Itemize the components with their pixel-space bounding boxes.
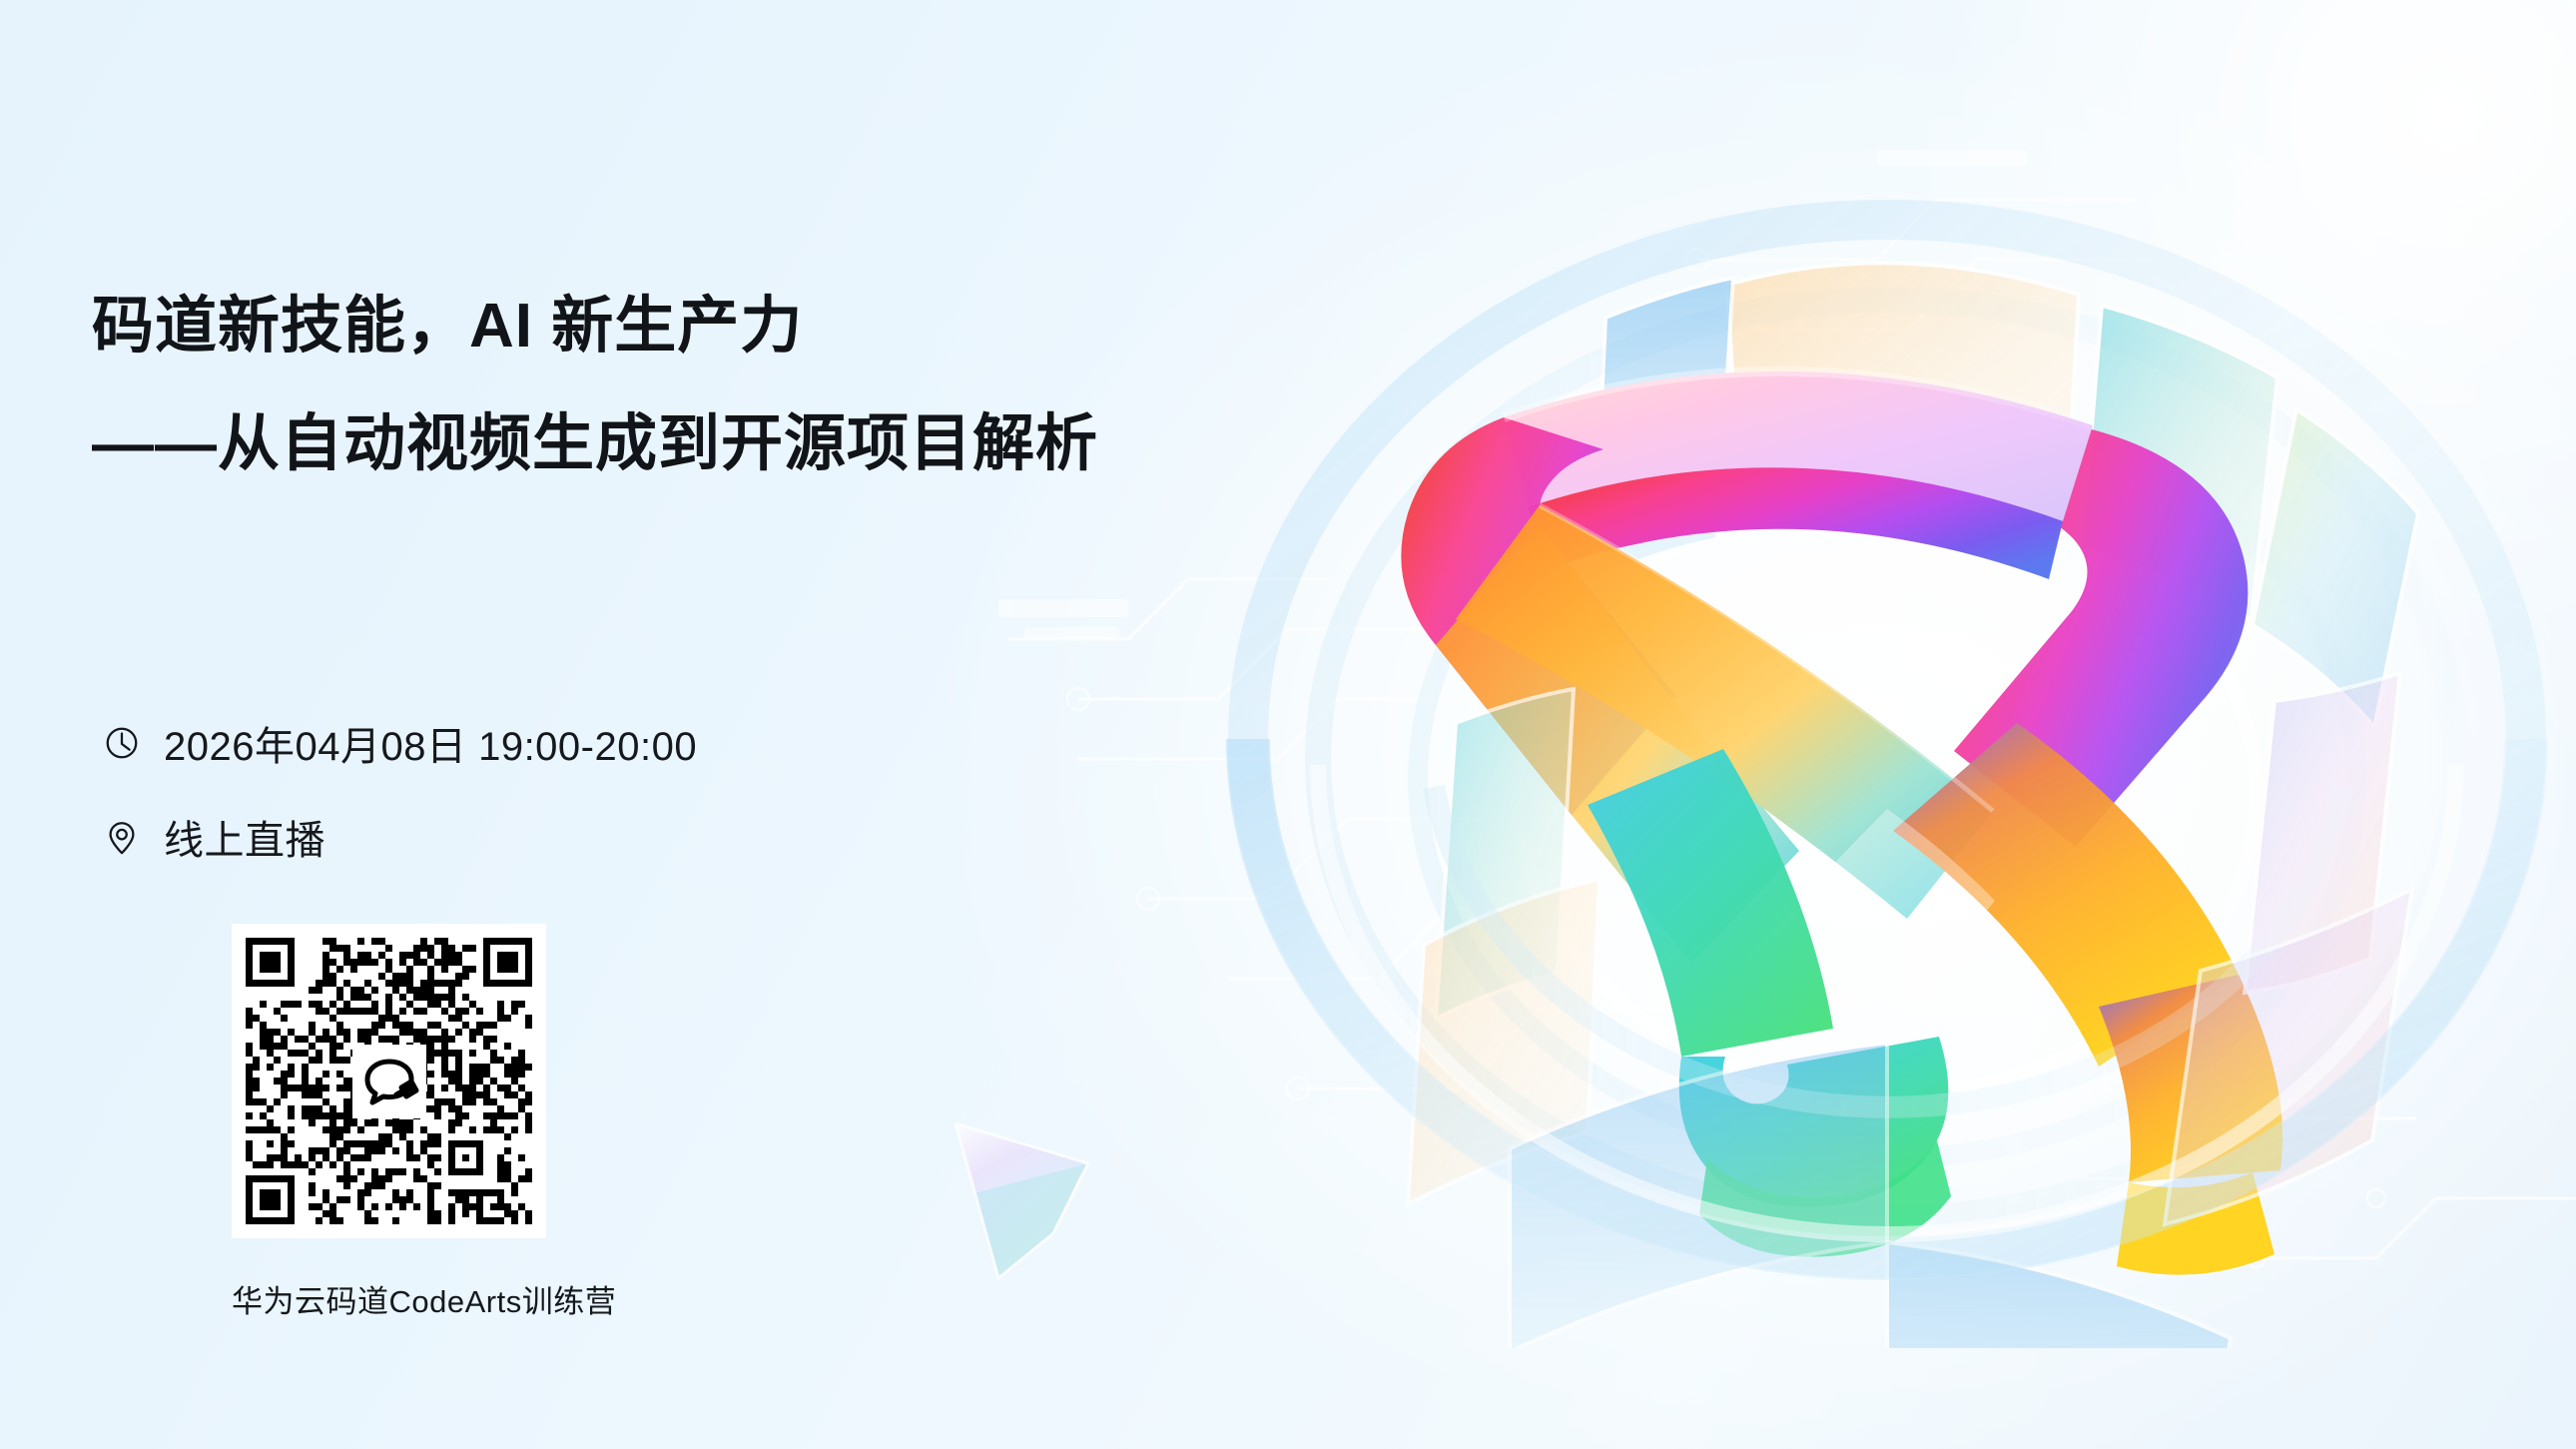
title-line-2: ——从自动视频生成到开源项目解析	[92, 413, 1270, 475]
event-location-text: 线上直播	[164, 808, 325, 866]
event-location-row: 线上直播	[102, 808, 1100, 866]
title-line-1: 码道新技能，AI 新生产力	[92, 296, 1270, 358]
event-datetime-row: 2026年04月08日 19:00-20:00	[102, 714, 1100, 772]
clock-icon	[102, 723, 142, 763]
event-meta: 2026年04月08日 19:00-20:00 线上直播	[102, 714, 1100, 902]
event-datetime-text: 2026年04月08日 19:00-20:00	[164, 714, 697, 772]
content-column: 码道新技能，AI 新生产力 ——从自动视频生成到开源项目解析 2026年04月0…	[92, 0, 1270, 1449]
page-title: 码道新技能，AI 新生产力 ——从自动视频生成到开源项目解析	[92, 296, 1270, 475]
location-pin-icon	[102, 817, 142, 857]
promo-banner: 码道新技能，AI 新生产力 ——从自动视频生成到开源项目解析 2026年04月0…	[0, 0, 2576, 1449]
qr-caption: 华为云码道CodeArts训练营	[232, 1276, 651, 1321]
3d-rainbow-ribbon-logo	[1188, 120, 2576, 1348]
speech-bubble-megaphone-icon	[352, 1045, 426, 1118]
qr-block: 华为云码道CodeArts训练营	[232, 924, 651, 1321]
qr-code[interactable]	[232, 924, 546, 1238]
